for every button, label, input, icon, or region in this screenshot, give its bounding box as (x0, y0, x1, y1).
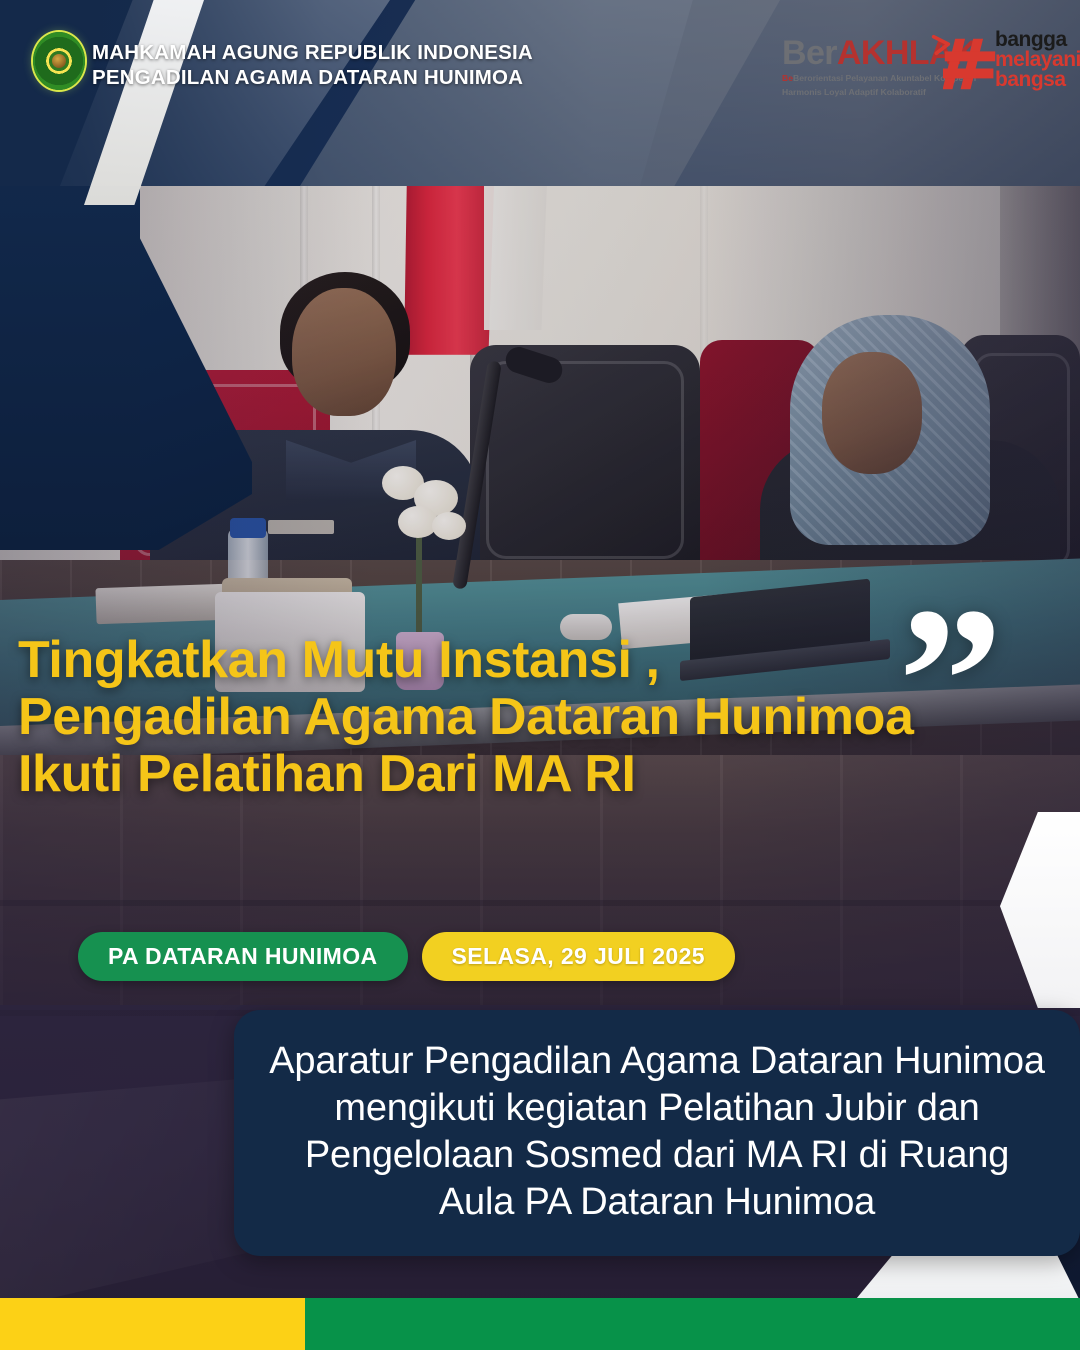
hashtag-icon (943, 36, 997, 92)
berakhlak-logo: BerAKHLAK BeBerorientasi Pelayanan Akunt… (782, 36, 952, 97)
bangga-line-2: melayani (995, 50, 1080, 70)
description-panel: Aparatur Pengadilan Agama Dataran Hunimo… (234, 1010, 1080, 1256)
status-badge-date: SELASA, 29 JULI 2025 (422, 932, 735, 981)
berakhlak-title: BerAKHLAK (782, 36, 952, 70)
bangga-line-3: bangsa (995, 70, 1080, 90)
footer-bar-green (305, 1298, 1080, 1350)
status-badge-source: PA DATARAN HUNIMOA (78, 932, 408, 981)
description-text: Aparatur Pengadilan Agama Dataran Hunimo… (264, 1038, 1050, 1226)
mahkamah-agung-seal-icon (33, 32, 85, 90)
berakhlak-tagline-1: BeBerorientasi Pelayanan Akuntabel Kompe… (782, 73, 952, 84)
institution-line-2: PENGADILAN AGAMA DATARAN HUNIMOA (92, 65, 533, 90)
bangga-line-1: bangga (995, 30, 1080, 50)
poster-canvas: MAHKAMAH AGUNG REPUBLIK INDONESIA PENGAD… (0, 0, 1080, 1350)
badge-row: PA DATARAN HUNIMOA SELASA, 29 JULI 2025 (78, 932, 735, 981)
header-institution-text: MAHKAMAH AGUNG REPUBLIK INDONESIA PENGAD… (92, 40, 533, 90)
institution-line-1: MAHKAMAH AGUNG REPUBLIK INDONESIA (92, 40, 533, 65)
bangga-text-lines: bangga melayani bangsa (995, 30, 1080, 90)
page-title: Tingkatkan Mutu Instansi , Pengadilan Ag… (18, 632, 918, 803)
berakhlak-title-prefix: Ber (782, 34, 837, 72)
footer-bar-yellow (0, 1298, 305, 1350)
left-navy-block (0, 150, 140, 550)
berakhlak-tagline-2: Harmonis Loyal Adaptif Kolaboratif (782, 87, 952, 98)
